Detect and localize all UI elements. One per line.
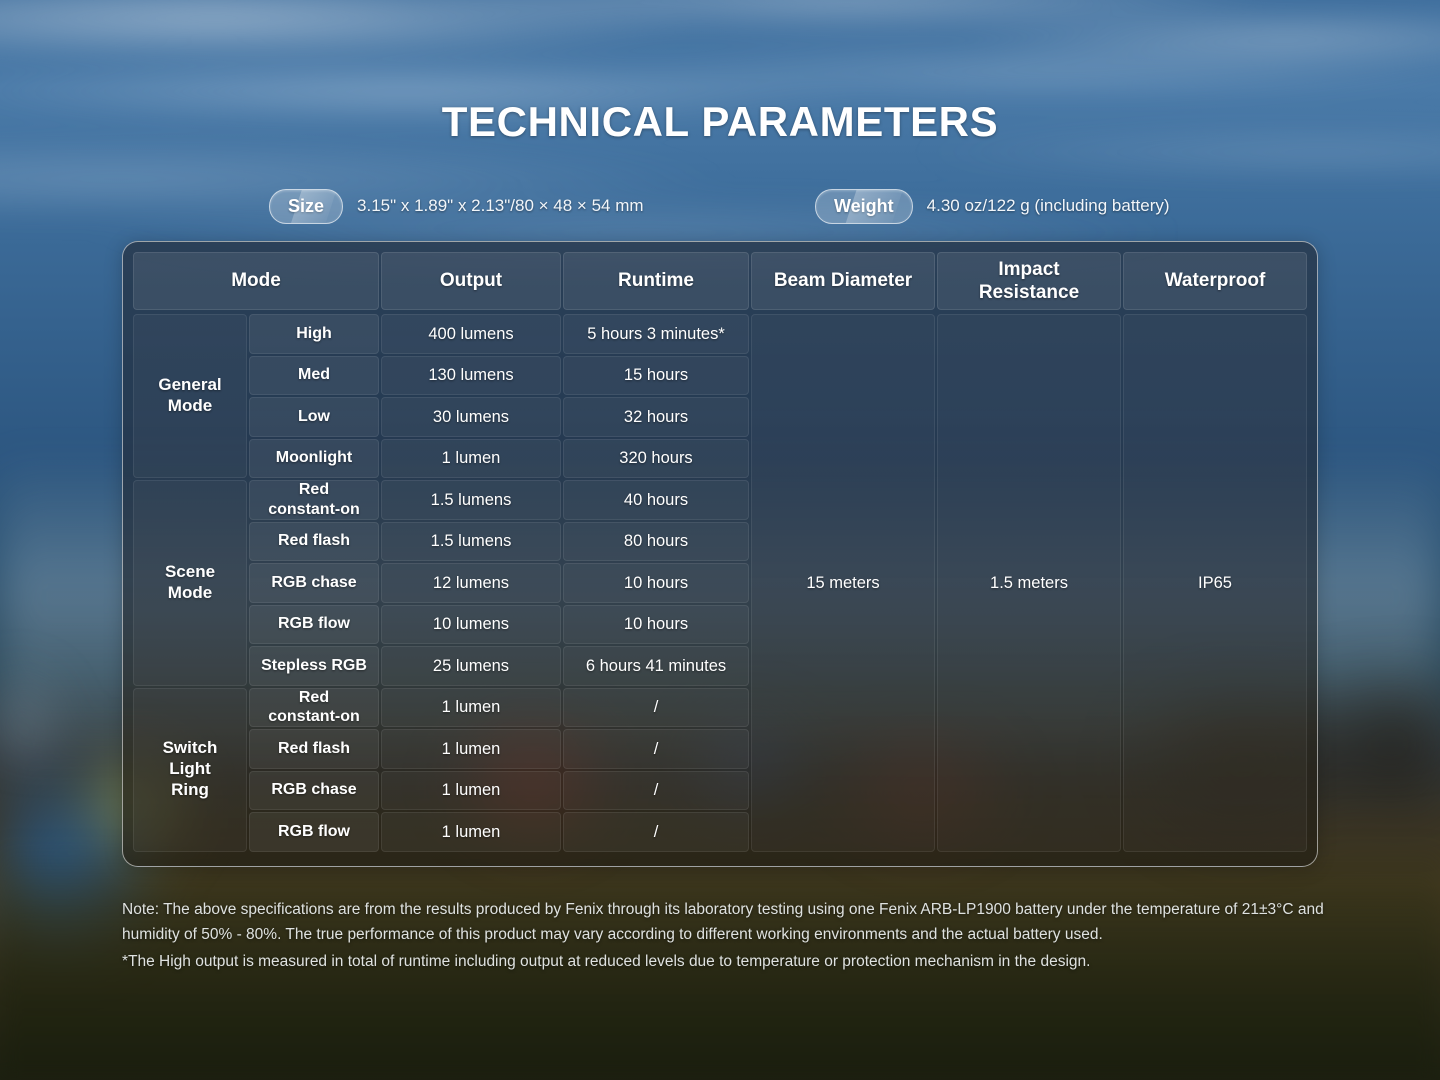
- spec-weight-value: 4.30 oz/122 g (including battery): [927, 196, 1170, 216]
- cell-mode: RGB chase: [249, 563, 379, 603]
- cell-mode: Red constant-on: [249, 480, 379, 520]
- cell-output: 10 lumens: [381, 605, 561, 645]
- cell-runtime: /: [563, 771, 749, 811]
- spec-size-label: Size: [288, 196, 324, 217]
- group-label-1: General Mode: [133, 314, 247, 478]
- cell-output: 130 lumens: [381, 356, 561, 396]
- cell-runtime: 15 hours: [563, 356, 749, 396]
- footnote-paragraph-2: *The High output is measured in total of…: [122, 949, 1338, 974]
- cell-runtime: /: [563, 812, 749, 852]
- cell-runtime: 80 hours: [563, 522, 749, 562]
- cell-output: 1 lumen: [381, 688, 561, 728]
- cell-runtime: /: [563, 688, 749, 728]
- cell-runtime: /: [563, 729, 749, 769]
- cell-output: 1 lumen: [381, 439, 561, 479]
- cell-mode: Red flash: [249, 522, 379, 562]
- cell-output: 25 lumens: [381, 646, 561, 686]
- cell-mode: Med: [249, 356, 379, 396]
- cell-mode: RGB flow: [249, 605, 379, 645]
- column-header-waterproof: Waterproof: [1123, 252, 1307, 310]
- cell-runtime: 32 hours: [563, 397, 749, 437]
- cell-output: 30 lumens: [381, 397, 561, 437]
- cell-runtime: 40 hours: [563, 480, 749, 520]
- cell-mode: Moonlight: [249, 439, 379, 479]
- parameters-table: ModeOutputRuntimeBeam DiameterImpact Res…: [133, 252, 1307, 856]
- spec-summary-row: Size 3.15" x 1.89" x 2.13"/80 × 48 × 54 …: [0, 188, 1440, 224]
- group-label-3: Switch Light Ring: [133, 688, 247, 852]
- cell-output: 1 lumen: [381, 771, 561, 811]
- footnote-block: Note: The above specifications are from …: [122, 897, 1338, 974]
- spec-weight: Weight 4.30 oz/122 g (including battery): [815, 188, 1170, 224]
- page-title: TECHNICAL PARAMETERS: [0, 98, 1440, 146]
- cell-waterproof: IP65: [1123, 314, 1307, 852]
- column-header-beam-diameter: Beam Diameter: [751, 252, 935, 310]
- cell-output: 1 lumen: [381, 729, 561, 769]
- cell-runtime: 5 hours 3 minutes*: [563, 314, 749, 354]
- column-header-impact-resistance: Impact Resistance: [937, 252, 1121, 310]
- cell-mode: Red flash: [249, 729, 379, 769]
- cell-mode: Low: [249, 397, 379, 437]
- cell-output: 1.5 lumens: [381, 522, 561, 562]
- cell-mode: Red constant-on: [249, 688, 379, 728]
- cell-beam-diameter: 15 meters: [751, 314, 935, 852]
- cell-output: 12 lumens: [381, 563, 561, 603]
- page-root: TECHNICAL PARAMETERS Size 3.15" x 1.89" …: [0, 0, 1440, 1080]
- cell-runtime: 6 hours 41 minutes: [563, 646, 749, 686]
- spec-weight-pill: Weight: [815, 189, 913, 224]
- column-header-runtime: Runtime: [563, 252, 749, 310]
- spec-size-value: 3.15" x 1.89" x 2.13"/80 × 48 × 54 mm: [357, 196, 644, 216]
- spec-weight-label: Weight: [834, 196, 894, 217]
- cell-output: 1.5 lumens: [381, 480, 561, 520]
- column-header-output: Output: [381, 252, 561, 310]
- cell-runtime: 10 hours: [563, 605, 749, 645]
- cell-output: 1 lumen: [381, 812, 561, 852]
- footnote-paragraph-1: Note: The above specifications are from …: [122, 897, 1338, 947]
- cell-mode: RGB chase: [249, 771, 379, 811]
- column-header-mode: Mode: [133, 252, 379, 310]
- cell-mode: High: [249, 314, 379, 354]
- cell-mode: RGB flow: [249, 812, 379, 852]
- cell-mode: Stepless RGB: [249, 646, 379, 686]
- spec-size-pill: Size: [269, 189, 343, 224]
- cell-runtime: 320 hours: [563, 439, 749, 479]
- cell-output: 400 lumens: [381, 314, 561, 354]
- spec-size: Size 3.15" x 1.89" x 2.13"/80 × 48 × 54 …: [269, 188, 644, 224]
- technical-parameters-table-card: ModeOutputRuntimeBeam DiameterImpact Res…: [122, 241, 1318, 867]
- group-label-2: Scene Mode: [133, 480, 247, 686]
- cell-runtime: 10 hours: [563, 563, 749, 603]
- cell-impact-resistance: 1.5 meters: [937, 314, 1121, 852]
